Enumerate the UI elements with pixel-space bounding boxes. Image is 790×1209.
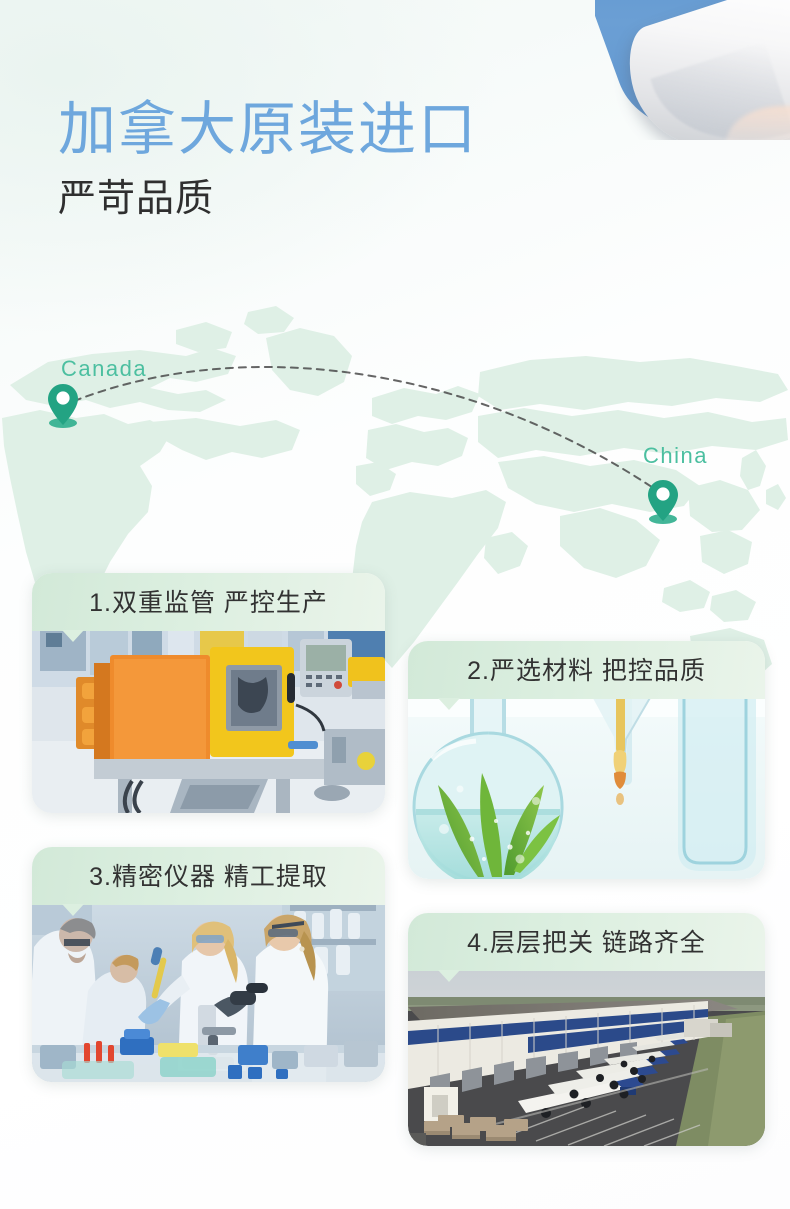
warehouse-loading-docks-aerial-photo	[408, 961, 765, 1146]
feature-card-2-header: 2.严选材料 把控品质	[408, 641, 765, 699]
page-title: 加拿大原装进口	[58, 100, 478, 161]
feature-card-3[interactable]: 3.精密仪器 精工提取	[32, 847, 385, 1082]
product-detail-page: 加拿大原装进口 严苛品质	[0, 0, 790, 1209]
page-curl-paper	[622, 0, 790, 140]
feature-card-4-label: 4.层层把关 链路齐全	[467, 923, 706, 961]
laboratory-flask-with-plant-photo	[408, 689, 765, 879]
page-curl-edge-tint	[726, 106, 790, 140]
page-curl-under-sheet	[595, 0, 790, 140]
speech-notch-icon	[62, 630, 84, 642]
feature-card-3-label: 3.精密仪器 精工提取	[89, 857, 328, 895]
feature-card-3-header: 3.精密仪器 精工提取	[32, 847, 385, 905]
speech-notch-icon	[438, 698, 460, 710]
speech-notch-icon	[62, 904, 84, 916]
scientists-in-laboratory-photo	[32, 895, 385, 1082]
page-subtitle: 严苛品质	[58, 179, 478, 221]
map-pin-icon-canada[interactable]	[46, 382, 80, 428]
feature-card-1-header: 1.双重监管 严控生产	[32, 573, 385, 631]
feature-card-4[interactable]: 4.层层把关 链路齐全	[408, 913, 765, 1146]
map-label-china: China	[643, 443, 708, 469]
page-title-block: 加拿大原装进口 严苛品质	[58, 100, 478, 221]
feature-card-1[interactable]: 1.双重监管 严控生产	[32, 573, 385, 813]
feature-card-2[interactable]: 2.严选材料 把控品质	[408, 641, 765, 879]
page-curl-icon	[595, 0, 790, 140]
map-label-canada: Canada	[61, 356, 147, 382]
page-curl-shadow	[650, 42, 790, 140]
map-pin-icon-china[interactable]	[646, 478, 680, 524]
speech-notch-icon	[438, 970, 460, 982]
feature-card-2-label: 2.严选材料 把控品质	[467, 651, 706, 689]
feature-card-1-label: 1.双重监管 严控生产	[89, 583, 328, 621]
feature-card-4-header: 4.层层把关 链路齐全	[408, 913, 765, 971]
injection-molding-machine-photo	[32, 621, 385, 813]
